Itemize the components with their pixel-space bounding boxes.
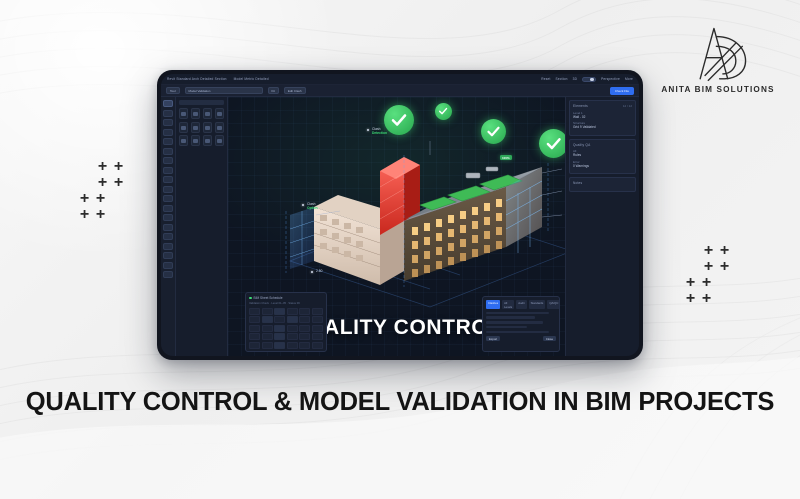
check-badge-roof: [435, 103, 452, 120]
plus-glyph-3: +: [112, 176, 125, 189]
sheet-cell-9[interactable]: [287, 316, 298, 323]
palette-validate-icon: [181, 112, 186, 116]
palette-header: [179, 100, 224, 105]
sheet-cell-10[interactable]: [299, 316, 310, 323]
isometric-building-model[interactable]: [280, 111, 565, 311]
palette-cell-select[interactable]: [191, 122, 200, 133]
sheet-cell-6[interactable]: [249, 316, 260, 323]
sheet-cell-7[interactable]: [262, 316, 273, 323]
check-file-button[interactable]: Check File: [610, 87, 634, 95]
app-screenshot-device: Revit Standard Arch Detailed Section Mod…: [157, 70, 643, 360]
properties-row[interactable]: Level 1Wall - 02: [573, 111, 632, 119]
sheet-cell-24[interactable]: [249, 342, 260, 349]
properties-row-value: 0 Warnings: [573, 164, 632, 168]
palette-clash-icon: [205, 112, 210, 116]
properties-card-notes[interactable]: Notes: [569, 177, 636, 192]
list-row[interactable]: [486, 316, 535, 319]
properties-card-title: Notes: [573, 181, 582, 185]
properties-card-header: Elements12 / 12: [573, 104, 632, 108]
list-tab-audit[interactable]: Audit: [516, 300, 526, 309]
status-dot-icon: [249, 297, 252, 300]
menu-item-0[interactable]: Revit Standard Arch Detailed Section: [167, 77, 227, 81]
properties-card-title: Elements: [573, 104, 588, 108]
rail-button-1[interactable]: [163, 110, 173, 117]
properties-panel[interactable]: Elements12 / 12Level 1Wall - 02Structure…: [565, 97, 639, 356]
rail-button-11[interactable]: [163, 205, 173, 212]
tag-model-score: 100%: [500, 155, 512, 160]
sheet-cell-20[interactable]: [274, 333, 285, 340]
sheet-schedule-panel[interactable]: BIM Sheet Schedule Validation Check · Le…: [245, 292, 327, 352]
sheet-cell-18[interactable]: [249, 333, 260, 340]
sheet-panel-title-row: BIM Sheet Schedule: [249, 296, 323, 300]
plus-glyph-1: +: [112, 160, 125, 173]
palette-cell-section[interactable]: [191, 135, 200, 146]
rail-button-7[interactable]: [163, 167, 173, 174]
rail-button-2[interactable]: [163, 119, 173, 126]
palette-tag-icon: [181, 139, 186, 143]
sheet-cell-8[interactable]: [274, 316, 285, 323]
menu-more[interactable]: More: [625, 77, 633, 81]
plus-glyph-5: +: [700, 276, 713, 289]
properties-card-header: Quality QA: [573, 143, 632, 147]
menu-item-1[interactable]: Model Metric Detailed: [234, 77, 269, 81]
rail-button-13[interactable]: [163, 224, 173, 231]
sheet-cell-28[interactable]: [299, 342, 310, 349]
palette-snap-icon: [217, 139, 222, 143]
properties-card-quality-qa[interactable]: Quality QAAllRulesError0 Warnings: [569, 139, 636, 175]
ribbon-chip-2-label: Fit: [272, 89, 275, 93]
rail-button-6[interactable]: [163, 157, 173, 164]
menu-section[interactable]: Section: [556, 77, 568, 81]
rail-button-17[interactable]: [163, 262, 173, 269]
properties-row-value: Rules: [573, 153, 632, 157]
app-body: ClashDetectionClashOptionCostResultClash…: [161, 97, 639, 356]
sheet-cell-25[interactable]: [262, 342, 273, 349]
sheet-cell-3[interactable]: [287, 308, 298, 315]
menubar-right-group[interactable]: Reset Section 3D Perspective More: [541, 77, 633, 82]
list-row[interactable]: [486, 331, 549, 334]
palette-measure-icon: [205, 139, 210, 143]
clash-list-tabs[interactable]: ClashesAll LevelsAuditStandardsQA/QC: [486, 300, 556, 309]
model-viewport[interactable]: ClashDetectionClashOptionCostResultClash…: [228, 97, 565, 356]
checkmark-icon: [486, 124, 501, 139]
rail-button-12[interactable]: [163, 214, 173, 221]
sheet-cell-26[interactable]: [274, 342, 285, 349]
plus-glyph-6: +: [684, 292, 697, 305]
list-tab-clashes[interactable]: Clashes: [486, 300, 500, 309]
palette-cell-audit[interactable]: [191, 108, 200, 119]
palette-section-icon: [193, 139, 198, 143]
plus-glyph-0: +: [702, 244, 715, 257]
sheet-panel-title: BIM Sheet Schedule: [254, 296, 283, 300]
properties-card-elements[interactable]: Elements12 / 12Level 1Wall - 02Structure…: [569, 100, 636, 136]
ribbon-chip-2[interactable]: Fit: [268, 87, 279, 94]
close-button[interactable]: Close: [543, 336, 556, 341]
menu-view-mode[interactable]: Perspective: [601, 77, 620, 81]
plus-glyph-5: +: [94, 192, 107, 205]
plus-glyph-3: +: [718, 260, 731, 273]
palette-select-icon: [193, 126, 198, 130]
rail-button-10[interactable]: [163, 195, 173, 202]
properties-row-value: Grid 9 Validated: [573, 125, 632, 129]
anno-clash-option-value: Option: [307, 206, 318, 210]
palette-review-icon: [217, 112, 222, 116]
plus-glyph-0: +: [96, 160, 109, 173]
sheet-cell-27[interactable]: [287, 342, 298, 349]
list-row[interactable]: [486, 321, 543, 324]
rail-button-3[interactable]: [163, 129, 173, 136]
sheet-cell-22[interactable]: [299, 333, 310, 340]
palette-grid[interactable]: [179, 108, 224, 146]
app-ribbon[interactable]: Tool Model Validation Fit Edit Clash Che…: [161, 85, 639, 97]
sheet-cell-12[interactable]: [249, 325, 260, 332]
plus-glyph-7: +: [94, 208, 107, 221]
plus-glyph-2: +: [96, 176, 109, 189]
palette-cell-hide[interactable]: [215, 122, 224, 133]
menu-reset[interactable]: Reset: [541, 77, 550, 81]
rail-button-4[interactable]: [163, 138, 173, 145]
app-screen: Revit Standard Arch Detailed Section Mod…: [161, 74, 639, 356]
list-tab-qa-qc[interactable]: QA/QC: [547, 300, 560, 309]
clash-list-footer[interactable]: Export Close: [486, 336, 556, 341]
anno-clash-detection-value: Detection: [372, 131, 387, 135]
brand-logo: ANITA BIM SOLUTIONS: [652, 22, 784, 106]
ribbon-chip-0[interactable]: Tool: [166, 87, 180, 94]
check-badge-mep: [481, 119, 506, 144]
list-row[interactable]: [486, 312, 549, 315]
ribbon-chip-3-label: Edit Clash: [288, 89, 302, 93]
sheet-cell-0[interactable]: [249, 308, 260, 315]
properties-card-meta: 12 / 12: [623, 104, 632, 108]
menu-3d-label: 3D: [573, 77, 577, 81]
sheet-cell-17[interactable]: [312, 325, 323, 332]
rail-button-8[interactable]: [163, 176, 173, 183]
checkmark-icon: [390, 111, 408, 129]
anita-bim-monogram-icon: [677, 22, 759, 82]
sheet-panel-subtitle: Validation Check · Level 01–05 · Status …: [249, 302, 323, 305]
sheet-cell-2[interactable]: [274, 308, 285, 315]
plus-glyph-6: +: [78, 208, 91, 221]
clash-list-panel[interactable]: ClashesAll LevelsAuditStandardsQA/QC Exp…: [482, 296, 560, 352]
app-menubar[interactable]: Revit Standard Arch Detailed Section Mod…: [161, 74, 639, 85]
palette-filter-icon: [181, 126, 186, 130]
palette-cell-measure[interactable]: [203, 135, 212, 146]
export-button[interactable]: Export: [486, 336, 500, 341]
properties-row[interactable]: AllRules: [573, 149, 632, 157]
tool-rail[interactable]: [161, 97, 176, 356]
check-badge-envelope: [539, 129, 565, 158]
rail-button-0[interactable]: [163, 100, 173, 107]
properties-row[interactable]: StructureGrid 9 Validated: [573, 121, 632, 129]
sheet-cell-13[interactable]: [262, 325, 273, 332]
list-row[interactable]: [486, 326, 527, 329]
sheet-cell-11[interactable]: [312, 316, 323, 323]
ribbon-chip-0-label: Tool: [170, 89, 176, 93]
palette-isolate-icon: [205, 126, 210, 130]
sheet-cell-23[interactable]: [312, 333, 323, 340]
sheet-cell-14[interactable]: [274, 325, 285, 332]
tool-palette[interactable]: [176, 97, 228, 356]
page-title: QUALITY CONTROL & MODEL VALIDATION IN BI…: [0, 388, 800, 417]
rail-button-16[interactable]: [163, 252, 173, 259]
checkmark-icon: [438, 106, 448, 116]
palette-cell-isolate[interactable]: [203, 122, 212, 133]
palette-hide-icon: [217, 126, 222, 130]
sheet-cell-29[interactable]: [312, 342, 323, 349]
brand-name: ANITA BIM SOLUTIONS: [661, 85, 774, 94]
palette-audit-icon: [193, 112, 198, 116]
sheet-cell-15[interactable]: [287, 325, 298, 332]
checkmark-icon: [545, 135, 562, 152]
palette-cell-clash[interactable]: [203, 108, 212, 119]
anno-dim-left: 2.80: [316, 269, 322, 273]
clash-list-rows[interactable]: [486, 312, 556, 334]
rail-button-15[interactable]: [163, 243, 173, 250]
plus-glyph-7: +: [700, 292, 713, 305]
palette-cell-review[interactable]: [215, 108, 224, 119]
palette-cell-tag[interactable]: [179, 135, 188, 146]
view-toggle[interactable]: [582, 77, 596, 82]
sheet-cell-1[interactable]: [262, 308, 273, 315]
properties-card-header: Notes: [573, 181, 632, 185]
rail-button-9[interactable]: [163, 186, 173, 193]
anno-clash-option: ClashOption: [307, 202, 318, 211]
check-file-label: Check File: [615, 89, 629, 93]
sheet-cell-5[interactable]: [312, 308, 323, 315]
ribbon-chip-1-label: Model Validation: [189, 89, 211, 93]
rail-button-18[interactable]: [163, 271, 173, 278]
list-tab-all-levels[interactable]: All Levels: [502, 300, 514, 309]
rail-button-5[interactable]: [163, 148, 173, 155]
sheet-cell-19[interactable]: [262, 333, 273, 340]
rail-button-14[interactable]: [163, 233, 173, 240]
properties-row[interactable]: Error0 Warnings: [573, 160, 632, 168]
plus-glyph-4: +: [78, 192, 91, 205]
check-badge-structural: [384, 105, 414, 135]
anno-dim-left-title: 2.80: [316, 269, 322, 273]
properties-card-title: Quality QA: [573, 143, 590, 147]
palette-cell-validate[interactable]: [179, 108, 188, 119]
ribbon-chip-1[interactable]: Model Validation: [185, 87, 263, 94]
palette-cell-filter[interactable]: [179, 122, 188, 133]
properties-row-value: Wall - 02: [573, 115, 632, 119]
sheet-cell-4[interactable]: [299, 308, 310, 315]
list-tab-standards[interactable]: Standards: [529, 300, 546, 309]
sheet-cell-16[interactable]: [299, 325, 310, 332]
sheet-cell-21[interactable]: [287, 333, 298, 340]
plus-glyph-2: +: [702, 260, 715, 273]
palette-cell-snap[interactable]: [215, 135, 224, 146]
plus-glyph-1: +: [718, 244, 731, 257]
ribbon-chip-3[interactable]: Edit Clash: [284, 87, 306, 94]
plus-glyph-4: +: [684, 276, 697, 289]
sheet-panel-grid[interactable]: [249, 308, 323, 349]
anno-clash-detection: ClashDetection: [372, 127, 387, 136]
